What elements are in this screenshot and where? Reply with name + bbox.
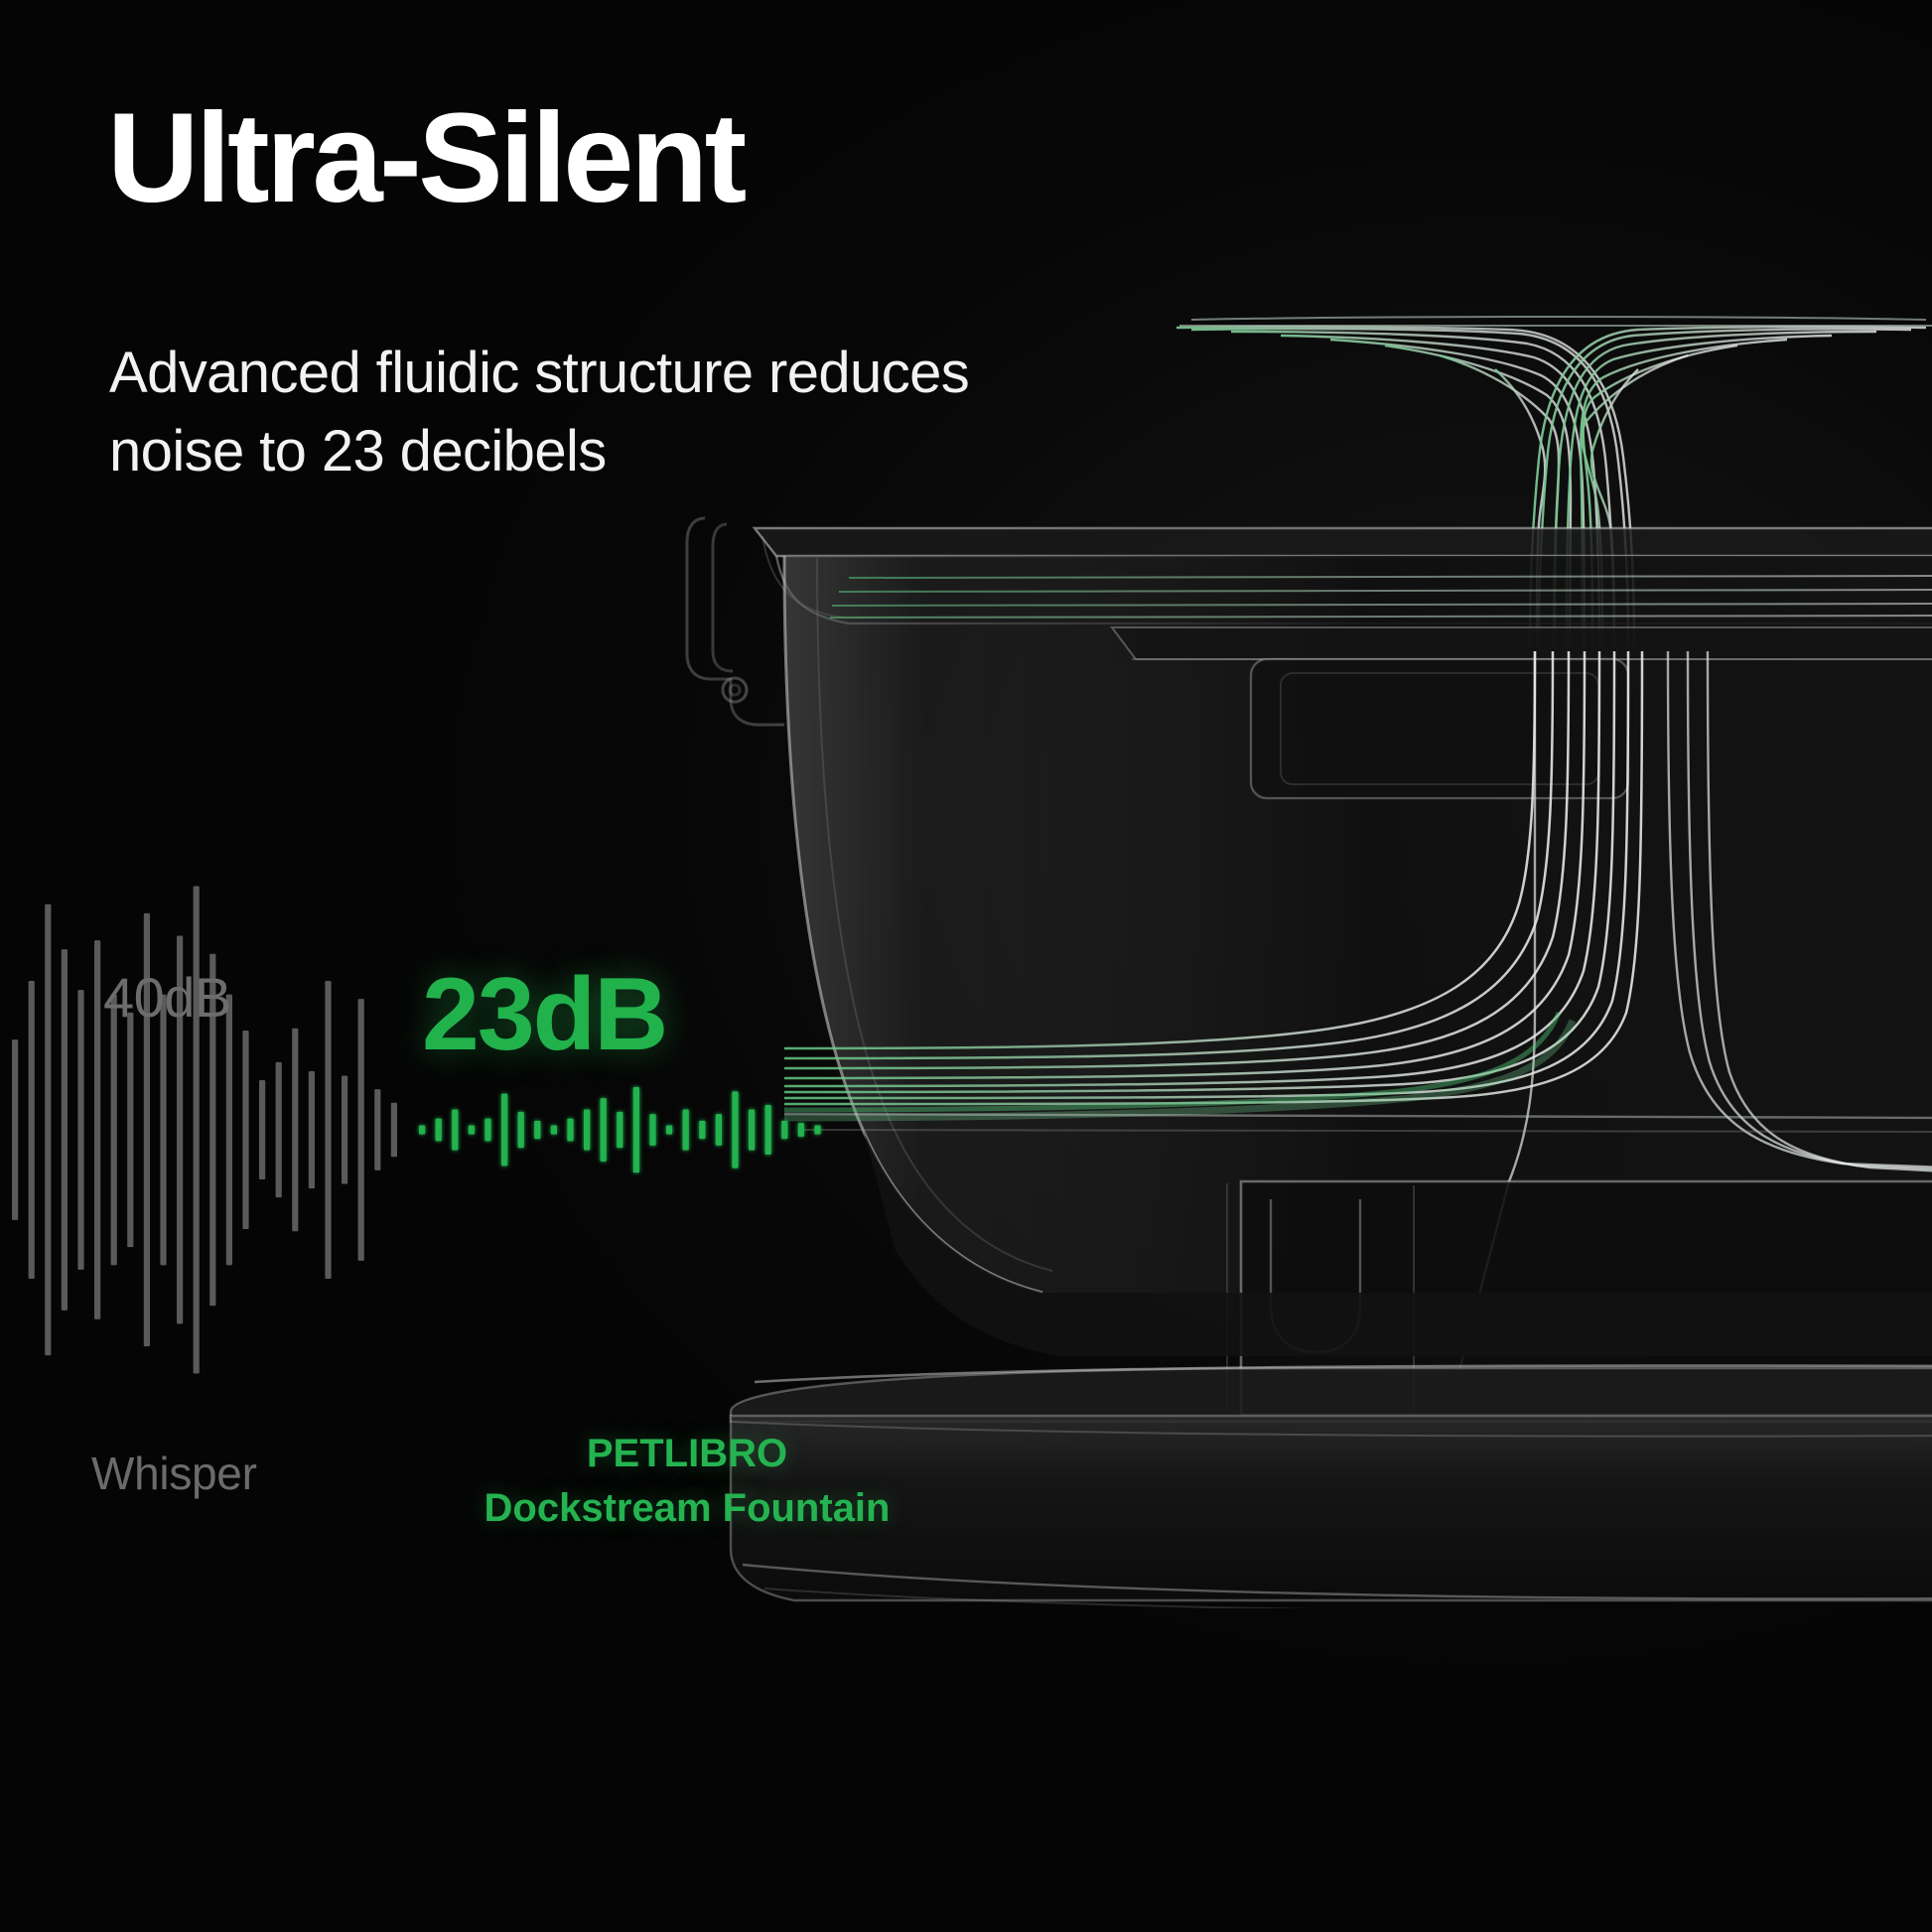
noise-waveform-chart bbox=[0, 854, 973, 1390]
waveform-bar bbox=[469, 1125, 475, 1134]
waveform-bar bbox=[633, 1087, 639, 1173]
waveform-bar bbox=[798, 1123, 804, 1137]
subtitle-line-2: noise to 23 decibels bbox=[109, 419, 607, 483]
waveform-bar bbox=[259, 1080, 265, 1179]
waveform-bar bbox=[567, 1119, 573, 1142]
page-subtitle: Advanced fluidic structure reduces noise… bbox=[109, 335, 969, 491]
waveform-bar bbox=[276, 1062, 282, 1197]
waveform-bar bbox=[292, 1029, 298, 1232]
waveform-bar bbox=[242, 1031, 248, 1229]
waveform-bar bbox=[765, 1105, 771, 1155]
subtitle-line-1: Advanced fluidic structure reduces bbox=[109, 341, 969, 405]
waveform-bar bbox=[666, 1125, 672, 1134]
waveform-bar bbox=[617, 1112, 622, 1148]
waveform-bar bbox=[749, 1110, 755, 1151]
promo-canvas: Ultra-Silent Advanced fluidic structure … bbox=[0, 0, 1932, 1932]
spout-top-rim bbox=[1179, 317, 1932, 326]
waveform-bar bbox=[419, 1125, 425, 1134]
waveform-bar bbox=[111, 995, 117, 1266]
waveform-bar bbox=[45, 904, 51, 1356]
waveform-bar bbox=[77, 990, 83, 1270]
waveform-bar bbox=[584, 1110, 590, 1151]
inner-shelf bbox=[1112, 627, 1932, 659]
waveform-bar bbox=[484, 1119, 490, 1142]
waveform-bar bbox=[452, 1110, 458, 1151]
waveform-bars-fountain bbox=[419, 1087, 821, 1173]
db-value-whisper: 40dB bbox=[103, 965, 231, 1030]
waveform-bar bbox=[325, 981, 331, 1279]
page-title: Ultra-Silent bbox=[107, 95, 744, 222]
waveform-bar bbox=[374, 1089, 380, 1171]
waveform-bar bbox=[732, 1091, 738, 1168]
waveform-bar bbox=[194, 887, 200, 1374]
waveform-bar bbox=[716, 1114, 722, 1146]
waveform-bar bbox=[814, 1125, 820, 1134]
waveform-bar bbox=[518, 1112, 524, 1148]
waveform-bar bbox=[683, 1110, 689, 1151]
waveform-bar bbox=[699, 1121, 705, 1139]
waveform-bar bbox=[391, 1103, 397, 1158]
pump-housing bbox=[1251, 659, 1628, 798]
waveform-bar bbox=[226, 995, 232, 1266]
waveform-bar bbox=[501, 1094, 507, 1167]
waveform-bar bbox=[127, 1013, 133, 1247]
waveform-bar bbox=[29, 981, 35, 1279]
waveform-bar bbox=[342, 1075, 347, 1183]
caption-fountain-brand: PETLIBRO bbox=[379, 1427, 995, 1481]
waveform-bar bbox=[358, 999, 364, 1261]
waveform-bar bbox=[781, 1121, 787, 1139]
caption-fountain: PETLIBRO Dockstream Fountain bbox=[379, 1427, 995, 1536]
waveform-bars-whisper bbox=[12, 887, 397, 1374]
db-value-fountain: 23dB bbox=[422, 956, 666, 1074]
waveform-bar bbox=[309, 1071, 315, 1188]
waveform-bar bbox=[534, 1121, 540, 1139]
caption-fountain-product: Dockstream Fountain bbox=[379, 1481, 995, 1536]
waveform-bar bbox=[436, 1119, 442, 1142]
tank-rim-top bbox=[755, 528, 1932, 556]
waveform-bar bbox=[551, 1125, 557, 1134]
caption-whisper: Whisper bbox=[91, 1447, 257, 1500]
waveform-bar bbox=[160, 995, 166, 1266]
waveform-bar bbox=[649, 1114, 655, 1146]
waveform-bar bbox=[12, 1039, 18, 1220]
waveform-bar bbox=[601, 1098, 607, 1162]
waveform-bar bbox=[62, 949, 68, 1311]
waveform-bar bbox=[94, 940, 100, 1319]
